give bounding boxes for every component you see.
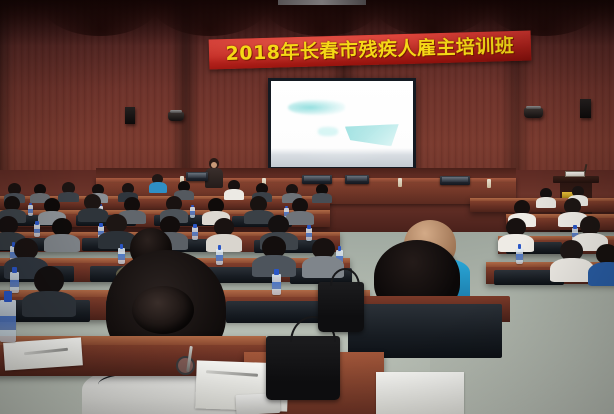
projector-glow (271, 81, 413, 167)
handbag-second (318, 282, 364, 332)
projection-slide (271, 81, 413, 167)
slide-graphic-teal-wedge (345, 124, 399, 146)
wall-speaker-left-2 (168, 112, 184, 121)
slide-graphic-teal-dot (318, 127, 338, 136)
wall-speaker-right-1 (524, 108, 543, 118)
foreground-woman-hair-bun (132, 286, 194, 334)
seat-panel-near-right (348, 304, 502, 358)
slide-graphic-teal-blob (288, 100, 345, 115)
water-bottle-r3c (192, 227, 198, 240)
head-table-monitor-2 (302, 175, 332, 184)
water-bottle-r3d (306, 228, 312, 241)
water-bottle-r5b (272, 274, 281, 295)
head-table-monitor-1 (186, 172, 208, 181)
head-table-monitor-3 (345, 175, 369, 184)
water-bottle-m3 (190, 207, 195, 218)
water-bottle-r5a (10, 272, 19, 293)
podium-top (553, 176, 599, 183)
notebook-foreground-left (3, 337, 83, 370)
auditorium-photo-scene: 2018年长春市残疾人雇主培训班 (0, 0, 614, 414)
water-bottle-right-3 (516, 248, 523, 264)
notebook-foreground-right (376, 372, 464, 414)
eyeglasses-foreground (176, 356, 195, 375)
wall-speaker-left-1 (125, 107, 135, 124)
wall-speaker-right-2 (580, 99, 591, 118)
head-table-bottle-4 (487, 179, 491, 188)
head-table-monitor-4 (440, 176, 470, 185)
water-bottle-foreground (0, 300, 16, 342)
water-bottle-r3a (34, 224, 40, 237)
ceiling-light-strip (278, 0, 366, 5)
water-bottle-m1 (28, 205, 33, 216)
podium-name-plate (565, 171, 585, 177)
handbag-foreground (266, 336, 340, 400)
head-table-bottle-3 (398, 178, 402, 187)
projection-screen (268, 78, 416, 170)
